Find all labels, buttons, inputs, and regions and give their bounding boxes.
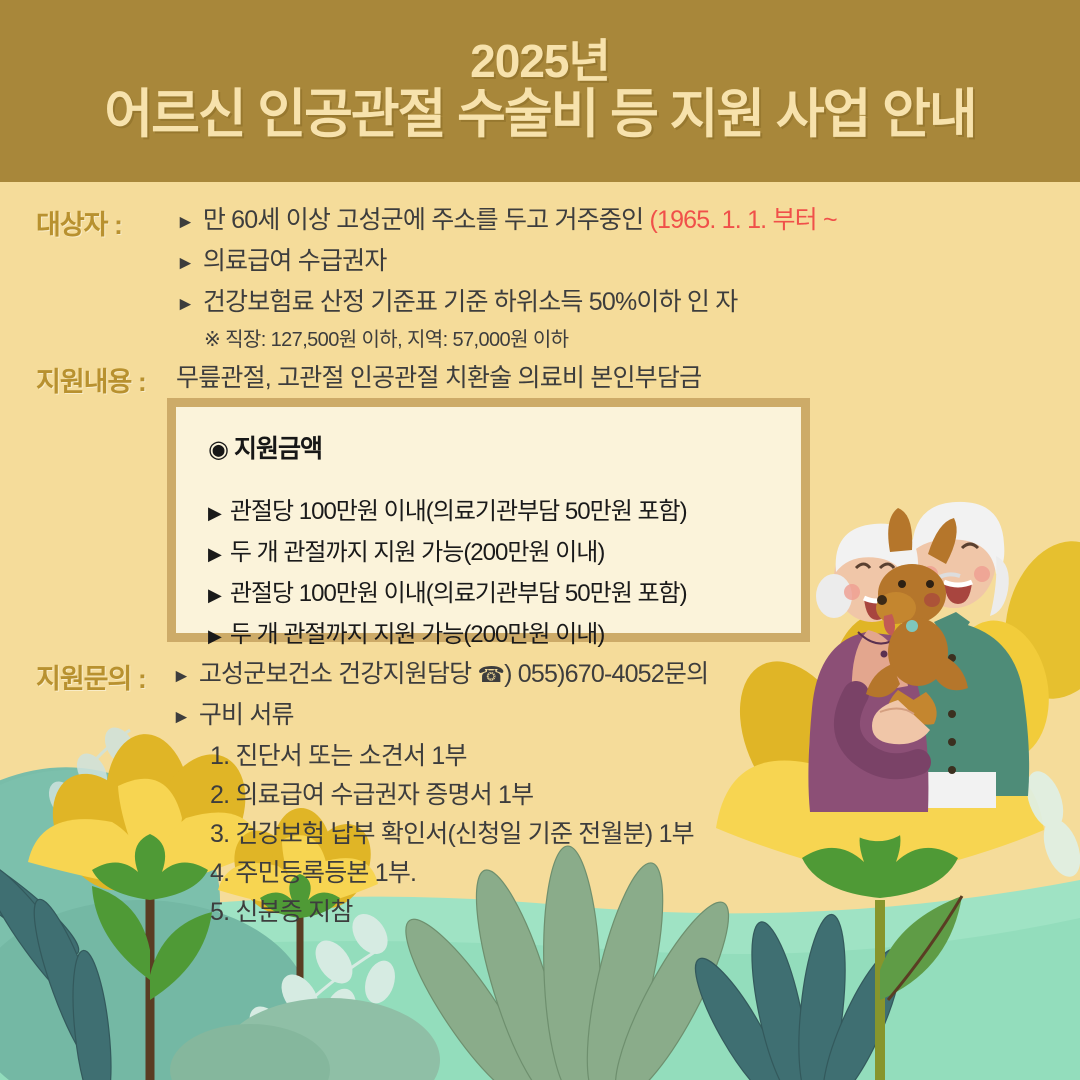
bullet-icon: ► — [172, 705, 191, 731]
document-item: 1. 진단서 또는 소견서 1부 — [210, 736, 708, 772]
amount-item: ▶ 관절당 100만원 이내(의료기관부담 50만원 포함) — [208, 491, 687, 526]
header-title: 어르신 인공관절 수술비 등 지원 사업 안내 — [104, 86, 975, 143]
amount-item-text: 두 개 관절까지 지원 가능(200만원 이내) — [230, 614, 605, 649]
poster-root: 2025년 어르신 인공관절 수술비 등 지원 사업 안내 대상자 : ► 만 … — [0, 0, 1080, 1080]
documents-heading: 구비 서류 — [199, 695, 294, 731]
bullet-icon: ► — [176, 251, 195, 277]
amount-box-title: ◉지원금액 — [208, 429, 322, 465]
header-year: 2025년 — [470, 38, 610, 86]
amount-item-text: 두 개 관절까지 지원 가능(200만원 이내) — [230, 532, 605, 567]
bullseye-icon: ◉ — [208, 436, 228, 463]
triangle-bullet-icon: ▶ — [208, 503, 221, 524]
support-label: 지원내용 : — [36, 360, 146, 399]
amount-box: ◉지원금액 ▶ 관절당 100만원 이내(의료기관부담 50만원 포함) ▶ 두… — [167, 398, 810, 642]
target-item-1-text: 만 60세 이상 고성군에 주소를 두고 거주중인 (1965. 1. 1. 부… — [203, 200, 837, 236]
contact-items: ► 고성군보건소 건강지원담당 ☎) 055)670-4052문의 ► 구비 서… — [172, 654, 708, 931]
contact-phone-number: ) 055)670-4052문의 — [504, 660, 708, 688]
target-items: ► 만 60세 이상 고성군에 주소를 두고 거주중인 (1965. 1. 1.… — [176, 200, 837, 352]
contact-office-line: ► 고성군보건소 건강지원담당 ☎) 055)670-4052문의 — [172, 654, 708, 690]
document-item: 2. 의료급여 수급권자 증명서 1부 — [210, 775, 708, 811]
amount-box-list: ▶ 관절당 100만원 이내(의료기관부담 50만원 포함) ▶ 두 개 관절까… — [208, 491, 687, 655]
amount-item: ▶ 두 개 관절까지 지원 가능(200만원 이내) — [208, 614, 687, 649]
contact-documents-heading-line: ► 구비 서류 — [172, 695, 708, 731]
triangle-bullet-icon: ▶ — [208, 626, 221, 647]
triangle-bullet-icon: ▶ — [208, 585, 221, 606]
target-item-2: ► 의료급여 수급권자 — [176, 241, 837, 277]
triangle-bullet-icon: ▶ — [208, 544, 221, 565]
poster-header: 2025년 어르신 인공관절 수술비 등 지원 사업 안내 — [0, 0, 1080, 182]
documents-list: 1. 진단서 또는 소견서 1부 2. 의료급여 수급권자 증명서 1부 3. … — [210, 736, 708, 928]
telephone-icon: ☎ — [478, 662, 505, 687]
amount-item: ▶ 두 개 관절까지 지원 가능(200만원 이내) — [208, 532, 687, 567]
target-item-3: ► 건강보험료 산정 기준표 기준 하위소득 50%이하 인 자 — [176, 282, 837, 318]
amount-box-title-text: 지원금액 — [234, 435, 322, 463]
document-item: 5. 신분증 지참 — [210, 892, 708, 928]
amount-item-text: 관절당 100만원 이내(의료기관부담 50만원 포함) — [230, 491, 687, 526]
target-item-3-text: 건강보험료 산정 기준표 기준 하위소득 50%이하 인 자 — [203, 282, 738, 318]
amount-item-text: 관절당 100만원 이내(의료기관부담 50만원 포함) — [230, 573, 687, 608]
contact-label: 지원문의 : — [36, 657, 146, 696]
elderly-couple-illustration — [808, 502, 1029, 812]
support-value: 무릎관절, 고관절 인공관절 치환술 의료비 본인부담금 — [176, 358, 701, 394]
contact-office-text: 고성군보건소 건강지원담당 ☎) 055)670-4052문의 — [199, 654, 708, 690]
document-item: 4. 주민등록등본 1부. — [210, 853, 708, 889]
document-item: 3. 건강보험 납부 확인서(신청일 기준 전월분) 1부 — [210, 814, 708, 850]
target-item-1: ► 만 60세 이상 고성군에 주소를 두고 거주중인 (1965. 1. 1.… — [176, 200, 837, 236]
target-label: 대상자 : — [36, 203, 122, 242]
target-item-1-red: (1965. 1. 1. 부터 ~ — [649, 206, 836, 234]
target-item-2-text: 의료급여 수급권자 — [203, 241, 387, 277]
target-note: ※ 직장: 127,500원 이하, 지역: 57,000원 이하 — [204, 323, 837, 352]
bullet-icon: ► — [176, 210, 195, 236]
bullet-icon: ► — [172, 664, 191, 690]
amount-item: ▶ 관절당 100만원 이내(의료기관부담 50만원 포함) — [208, 573, 687, 608]
bullet-icon: ► — [176, 292, 195, 318]
